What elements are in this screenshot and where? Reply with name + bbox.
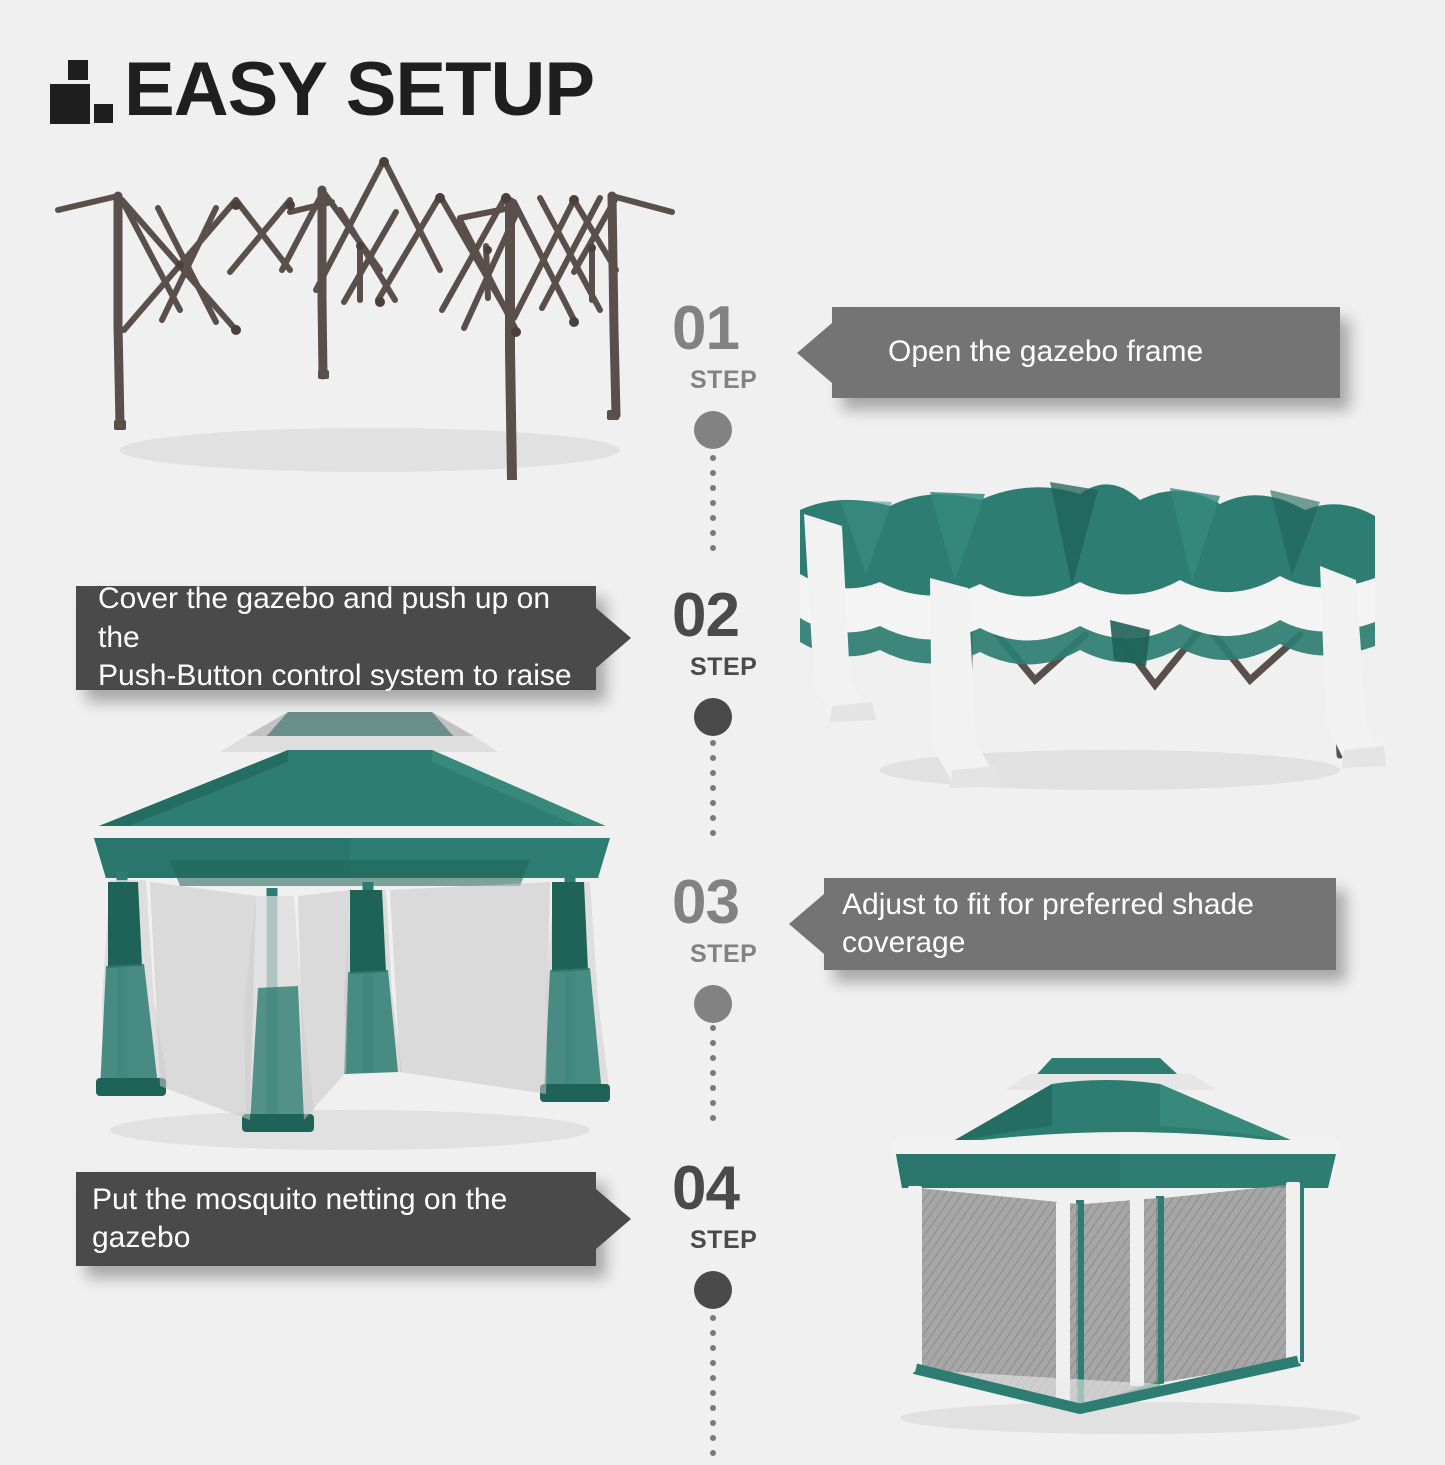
dotted-connector-segment: [710, 440, 716, 560]
step-number: 02: [672, 585, 902, 647]
step-marker-04: 04 STEP: [672, 1158, 902, 1309]
step-marker-02: 02 STEP: [672, 585, 902, 736]
dotted-connector-segment: [710, 1010, 716, 1130]
step-bullet: [694, 1271, 732, 1309]
callout-step-01: Open the gazebo frame: [832, 307, 1340, 398]
photo-gazebo-frame-unfolded: [40, 150, 690, 480]
step-bullet: [694, 698, 732, 736]
step-bullet: [694, 985, 732, 1023]
callout-arrow-icon: [596, 608, 631, 668]
step-word: STEP: [690, 653, 902, 682]
callout-step-03: Adjust to fit for preferred shade covera…: [824, 878, 1336, 970]
callout-step-02: Cover the gazebo and push up on the Push…: [76, 586, 596, 690]
callout-arrow-icon: [596, 1189, 631, 1249]
step-bullet: [694, 411, 732, 449]
infographic-stage: EASY SETUP: [0, 0, 1445, 1445]
callout-step-04: Put the mosquito netting on the gazebo: [76, 1172, 596, 1266]
dotted-connector-segment: [710, 1300, 716, 1465]
callout-text: Adjust to fit for preferred shade covera…: [842, 886, 1336, 963]
photo-gazebo-erected-netting-tied: [50, 700, 660, 1160]
photo-gazebo-with-mosquito-netting: [830, 1040, 1420, 1440]
dotted-connector-segment: [710, 725, 716, 845]
step-number: 04: [672, 1158, 902, 1220]
callout-text: Put the mosquito netting on the gazebo: [92, 1181, 596, 1258]
callout-text: Open the gazebo frame: [888, 333, 1203, 371]
page-header: EASY SETUP: [48, 52, 594, 128]
page-title: EASY SETUP: [124, 52, 594, 128]
callout-text: Cover the gazebo and push up on the Push…: [98, 580, 596, 695]
step-word: STEP: [690, 1226, 902, 1255]
callout-arrow-icon: [797, 323, 832, 383]
three-squares-logo-icon: [48, 56, 110, 124]
callout-arrow-icon: [789, 894, 824, 954]
